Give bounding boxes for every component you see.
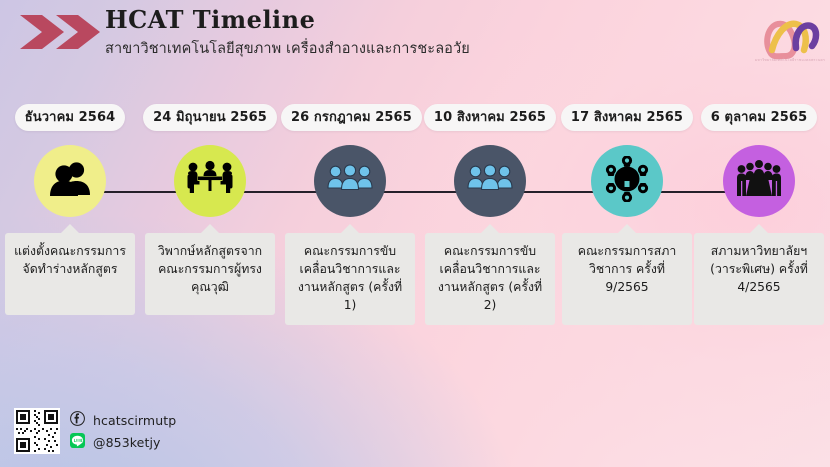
date-badge-wrap: 26 กรกฎาคม 2565 (281, 104, 419, 131)
page-title: HCAT Timeline (105, 6, 470, 34)
date-badge-wrap: 24 มิถุนายน 2565 (141, 104, 279, 131)
caption-notch (481, 224, 499, 233)
round-table-meeting-icon (604, 156, 650, 206)
caption-notch (341, 224, 359, 233)
timeline: ธันวาคม 2564 แต่งตั้งคณะกรรมการจัดทำร่าง… (0, 104, 830, 354)
timeline-node[interactable] (454, 145, 526, 217)
status-badge: 24 มิถุนายน 2565 (143, 104, 277, 131)
line-icon (70, 433, 85, 452)
milestone-caption: คณะกรรมการขับเคลื่อนวิชาการและงานหลักสูต… (285, 233, 415, 325)
status-badge: 17 สิงหาคม 2565 (561, 104, 693, 131)
milestone-caption: วิพากษ์หลักสูตรจากคณะกรรมการผู้ทรงคุณวุฒ… (145, 233, 275, 315)
double-chevron-right-icon (20, 12, 102, 52)
timeline-node[interactable] (34, 145, 106, 217)
page-subtitle: สาขาวิชาเทคโนโลยีสุขภาพ เครื่องสำอางและก… (105, 39, 470, 59)
title-block: HCAT Timeline สาขาวิชาเทคโนโลยีสุขภาพ เค… (105, 6, 470, 59)
timeline-node[interactable] (174, 145, 246, 217)
timeline-milestone[interactable]: 26 กรกฎาคม 2565 คณะกรรมการขับเคลื่อนวิชา… (281, 104, 419, 325)
group-of-three-people-icon (327, 164, 373, 198)
line-handle: @853ketjy (93, 435, 161, 450)
timeline-milestone[interactable]: 24 มิถุนายน 2565 (141, 104, 279, 315)
caption-notch (201, 224, 219, 233)
header: HCAT Timeline สาขาวิชาเทคโนโลยีสุขภาพ เค… (0, 0, 830, 78)
timeline-node[interactable] (314, 145, 386, 217)
board-committee-icon (736, 158, 782, 204)
caption-notch (618, 224, 636, 233)
facebook-row[interactable]: hcatscirmutp (70, 411, 176, 430)
date-badge-wrap: 10 สิงหาคม 2565 (421, 104, 559, 131)
caption-notch (61, 224, 79, 233)
milestone-caption: คณะกรรมการสภาวิชาการ ครั้งที่ 9/2565 (562, 233, 692, 325)
facebook-icon (70, 411, 85, 430)
timeline-milestone[interactable]: 10 สิงหาคม 2565 คณะกรรมการขับเคลื่อนวิชา… (421, 104, 559, 325)
timeline-node[interactable] (723, 145, 795, 217)
timeline-milestone[interactable]: ธันวาคม 2564 แต่งตั้งคณะกรรมการจัดทำร่าง… (1, 104, 139, 315)
two-people-icon (48, 161, 92, 201)
status-badge: 26 กรกฎาคม 2565 (281, 104, 422, 131)
milestone-caption: คณะกรรมการขับเคลื่อนวิชาการและงานหลักสูต… (425, 233, 555, 325)
facebook-handle: hcatscirmutp (93, 413, 176, 428)
logo-caption: มหาวิทยาลัยเทคโนโลยีราชมงคลพระนคร (754, 58, 826, 63)
milestone-caption: แต่งตั้งคณะกรรมการจัดทำร่างหลักสูตร (5, 233, 135, 315)
milestone-caption: สภามหาวิทยาลัยฯ (วาระพิเศษ) ครั้งที่ 4/2… (694, 233, 824, 325)
date-badge-wrap: ธันวาคม 2564 (1, 104, 139, 131)
timeline-node[interactable] (591, 145, 663, 217)
meeting-table-icon (185, 159, 235, 203)
qr-code-icon[interactable] (14, 408, 60, 454)
footer: hcatscirmutp @853ketjy (14, 408, 314, 456)
date-badge-wrap: 6 ตุลาคม 2565 (690, 104, 828, 131)
status-badge: 10 สิงหาคม 2565 (424, 104, 556, 131)
timeline-milestone[interactable]: 17 สิงหาคม 2565 (558, 104, 696, 325)
status-badge: 6 ตุลาคม 2565 (701, 104, 817, 131)
line-row[interactable]: @853ketjy (70, 433, 161, 452)
caption-notch (750, 224, 768, 233)
status-badge: ธันวาคม 2564 (15, 104, 126, 131)
timeline-milestone[interactable]: 6 ตุลาคม 2565 (690, 104, 828, 325)
date-badge-wrap: 17 สิงหาคม 2565 (558, 104, 696, 131)
group-of-three-people-icon (467, 164, 513, 198)
